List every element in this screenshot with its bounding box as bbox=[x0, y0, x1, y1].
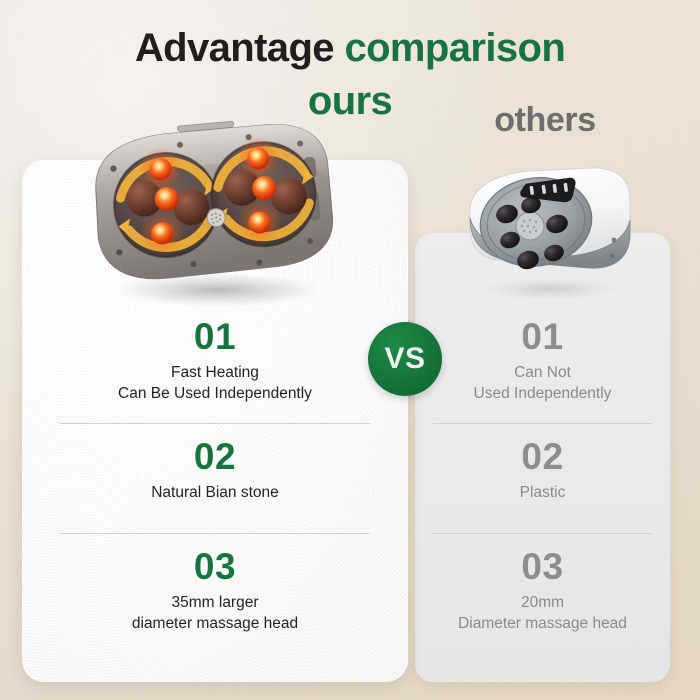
row-divider bbox=[60, 423, 370, 424]
feature-line: Can Not bbox=[415, 363, 670, 384]
list-item: 01 Can Not Used Independently bbox=[415, 318, 670, 408]
vs-badge: VS bbox=[368, 322, 442, 396]
title-part-advantage: Advantage bbox=[135, 26, 345, 70]
feature-line: 20mm bbox=[415, 593, 670, 614]
row-divider bbox=[60, 533, 370, 534]
row-divider bbox=[433, 423, 652, 424]
title-part-comparison: comparison bbox=[344, 26, 565, 70]
feature-line: Diameter massage head bbox=[415, 614, 670, 635]
feature-number: 02 bbox=[22, 438, 408, 477]
feature-number: 02 bbox=[415, 438, 670, 477]
list-item: 02 Plastic bbox=[415, 438, 670, 518]
title-part-ours: ours bbox=[308, 79, 392, 123]
ours-feature-list: 01 Fast Heating Can Be Used Independentl… bbox=[22, 318, 408, 635]
list-item: 03 35mm larger diameter massage head bbox=[22, 548, 408, 635]
feature-text: Can Not Used Independently bbox=[415, 363, 670, 405]
others-feature-list: 01 Can Not Used Independently 02 Plastic… bbox=[415, 318, 670, 635]
feature-number: 03 bbox=[415, 548, 670, 587]
feature-text: Natural Bian stone bbox=[22, 483, 408, 504]
row-divider bbox=[433, 533, 652, 534]
feature-line: Used Independently bbox=[415, 384, 670, 405]
list-item: 02 Natural Bian stone bbox=[22, 438, 408, 518]
ours-product-image bbox=[60, 118, 360, 313]
feature-line: Fast Heating bbox=[22, 363, 408, 384]
feature-number: 01 bbox=[22, 318, 408, 357]
feature-line: diameter massage head bbox=[22, 614, 408, 635]
feature-text: Fast Heating Can Be Used Independently bbox=[22, 363, 408, 405]
feature-line: Plastic bbox=[415, 483, 670, 504]
list-item: 01 Fast Heating Can Be Used Independentl… bbox=[22, 318, 408, 408]
others-heading: others bbox=[420, 101, 670, 140]
feature-line: Natural Bian stone bbox=[22, 483, 408, 504]
feature-text: 20mm Diameter massage head bbox=[415, 593, 670, 635]
feature-number: 03 bbox=[22, 548, 408, 587]
dual-head-heated-massager-icon bbox=[60, 118, 360, 313]
feature-text: 35mm larger diameter massage head bbox=[22, 593, 408, 635]
list-item: 03 20mm Diameter massage head bbox=[415, 548, 670, 635]
comparison-infographic: Advantage comparison ours others bbox=[0, 0, 700, 700]
feature-number: 01 bbox=[415, 318, 670, 357]
feature-line: 35mm larger bbox=[22, 593, 408, 614]
feature-text: Plastic bbox=[415, 483, 670, 504]
others-product-image bbox=[452, 152, 642, 302]
multi-node-massager-icon bbox=[452, 152, 642, 302]
feature-line: Can Be Used Independently bbox=[22, 384, 408, 405]
